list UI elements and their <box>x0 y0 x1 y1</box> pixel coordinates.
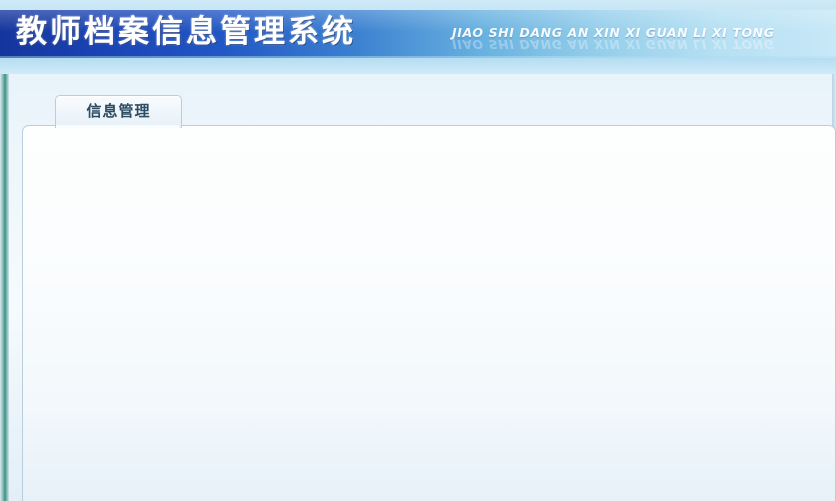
left-edge-stripe <box>0 74 9 501</box>
content-panel <box>22 125 836 501</box>
tab-active-mask <box>56 125 179 128</box>
application-window: 教师档案信息管理系统 JIAO SHI DANG AN XIN XI GUAN … <box>0 0 836 501</box>
app-title: 教师档案信息管理系统 <box>16 10 356 56</box>
header-underline <box>0 56 836 58</box>
tab-information-management[interactable]: 信息管理 <box>55 95 182 128</box>
app-header: 教师档案信息管理系统 JIAO SHI DANG AN XIN XI GUAN … <box>0 0 836 74</box>
app-subtitle-reflection: JIAO SHI DANG AN XIN XI GUAN LI XI TONG <box>452 34 775 54</box>
